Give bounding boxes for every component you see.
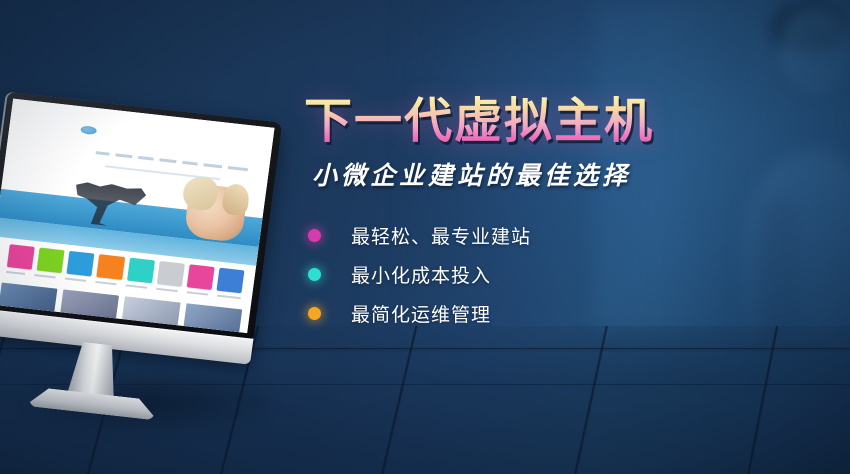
banner-subheadline: 小微企业建站的最佳选择 [312,156,830,192]
feature-item: 最小化成本投入 [308,257,830,293]
banner-content: 下一代虚拟主机 小微企业建站的最佳选择 最轻松、最专业建站 最小化成本投入 最简… [300,96,830,335]
feature-label: 最小化成本投入 [351,261,491,288]
feature-item: 最轻松、最专业建站 [308,218,830,254]
feature-label: 最简化运维管理 [351,300,491,327]
feature-list: 最轻松、最专业建站 最小化成本投入 最简化运维管理 [300,218,830,332]
teal-bullet-dot [308,268,321,281]
banner-headline: 下一代虚拟主机 [304,96,830,148]
hero-banner: 下一代虚拟主机 小微企业建站的最佳选择 最轻松、最专业建站 最小化成本投入 最简… [0,0,850,474]
magenta-bullet-dot [308,229,321,242]
orange-bullet-dot [308,307,321,320]
feature-item: 最简化运维管理 [308,296,830,332]
feature-label: 最轻松、最专业建站 [351,222,531,249]
